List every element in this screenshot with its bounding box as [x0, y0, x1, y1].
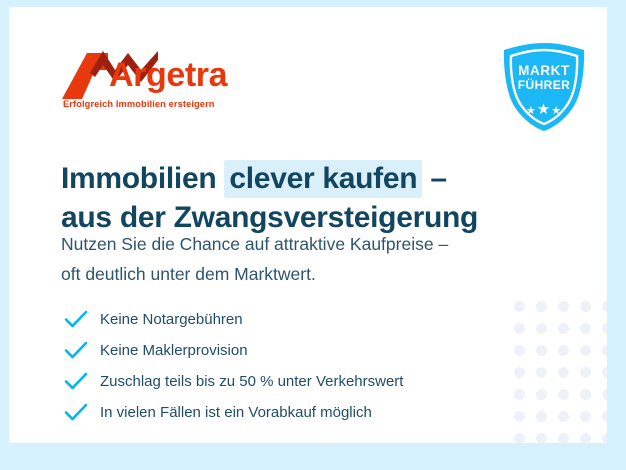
advertisement-card: Argetra Erfolgreich Immobilien ersteiger…: [9, 7, 607, 443]
decorative-dot: [580, 345, 591, 356]
headline-after-highlight: –: [422, 162, 446, 195]
decorative-dot: [514, 367, 525, 378]
decorative-dot: [536, 367, 547, 378]
badge-line-2: FÜHRER: [498, 78, 590, 93]
decorative-dot: [602, 411, 607, 422]
decorative-dot: [558, 323, 569, 334]
subheadline: Nutzen Sie die Chance auf attraktive Kau…: [61, 229, 561, 289]
decorative-dot: [558, 345, 569, 356]
subheadline-line-2: oft deutlich unter dem Marktwert.: [61, 259, 561, 289]
badge-line-1: MARKT: [498, 63, 590, 78]
decorative-dot: [536, 389, 547, 400]
decorative-dot: [558, 411, 569, 422]
decorative-dot: [514, 411, 525, 422]
benefit-item: Keine Notargebühren: [64, 304, 514, 335]
benefit-item: In vielen Fällen ist ein Vorabkauf mögli…: [64, 397, 514, 428]
star-right: ★: [551, 105, 562, 117]
decorative-dot: [514, 433, 525, 443]
logo-tagline: Erfolgreich Immobilien ersteigern: [63, 99, 215, 109]
benefit-label: Keine Notargebühren: [100, 310, 243, 329]
decorative-dot: [514, 323, 525, 334]
argetra-logo[interactable]: Argetra Erfolgreich Immobilien ersteiger…: [62, 51, 272, 117]
decorative-dot: [602, 389, 607, 400]
check-icon: [64, 310, 88, 329]
decorative-dot: [602, 345, 607, 356]
star-left: ★: [526, 105, 537, 117]
decorative-dot: [558, 389, 569, 400]
benefit-item: Keine Maklerprovision: [64, 335, 514, 366]
decorative-dot: [514, 301, 525, 312]
decorative-dot: [536, 301, 547, 312]
decorative-dot: [536, 345, 547, 356]
star-center: ★: [537, 101, 551, 118]
decorative-dot: [558, 433, 569, 443]
decorative-dot: [602, 367, 607, 378]
decorative-dot: [580, 411, 591, 422]
dot-grid-decoration: [514, 301, 607, 443]
subheadline-line-1: Nutzen Sie die Chance auf attraktive Kau…: [61, 229, 561, 259]
benefit-list: Keine NotargebührenKeine Maklerprovision…: [64, 304, 514, 428]
benefit-label: Zuschlag teils bis zu 50 % unter Verkehr…: [100, 372, 403, 391]
decorative-dot: [580, 433, 591, 443]
decorative-dot: [580, 367, 591, 378]
logo-wordmark: Argetra: [109, 55, 227, 95]
check-icon: [64, 403, 88, 422]
decorative-dot: [580, 389, 591, 400]
decorative-dot: [514, 345, 525, 356]
market-leader-badge: MARKT FÜHRER ★★★: [498, 41, 590, 133]
decorative-dot: [558, 301, 569, 312]
headline-highlight: clever kaufen: [224, 160, 422, 198]
decorative-dot: [580, 301, 591, 312]
decorative-dot: [536, 433, 547, 443]
decorative-dot: [602, 433, 607, 443]
headline: Immobilien clever kaufen – aus der Zwang…: [61, 160, 561, 237]
decorative-dot: [514, 389, 525, 400]
decorative-dot: [558, 367, 569, 378]
decorative-dot: [536, 323, 547, 334]
decorative-dot: [602, 301, 607, 312]
decorative-dot: [602, 323, 607, 334]
check-icon: [64, 372, 88, 391]
benefit-label: Keine Maklerprovision: [100, 341, 248, 360]
decorative-dot: [580, 323, 591, 334]
headline-before-highlight: Immobilien: [61, 162, 224, 195]
badge-text: MARKT FÜHRER: [498, 63, 590, 93]
benefit-label: In vielen Fällen ist ein Vorabkauf mögli…: [100, 403, 372, 422]
decorative-dot: [536, 411, 547, 422]
benefit-item: Zuschlag teils bis zu 50 % unter Verkehr…: [64, 366, 514, 397]
check-icon: [64, 341, 88, 360]
badge-stars: ★★★: [498, 100, 590, 118]
